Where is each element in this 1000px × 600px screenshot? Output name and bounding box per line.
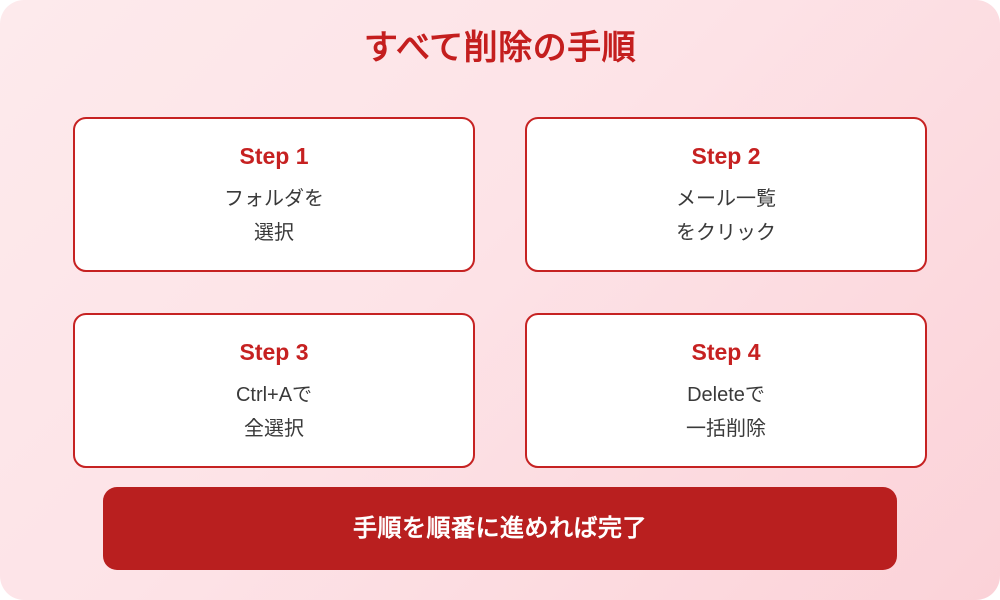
step-card-3-heading: Step 3 [239, 338, 308, 366]
step-card-1-body: フォルダを 選択 [224, 182, 324, 250]
step-card-1-heading: Step 1 [239, 142, 308, 170]
step-card-2: Step 2 メール一覧 をクリック [525, 117, 927, 272]
step-card-2-body: メール一覧 をクリック [676, 182, 776, 250]
step-card-2-heading: Step 2 [691, 142, 760, 170]
step-card-3: Step 3 Ctrl+Aで 全選択 [73, 313, 475, 468]
footer-banner-label: 手順を順番に進めれば完了 [353, 514, 647, 544]
page-title: すべて削除の手順 [0, 27, 1000, 69]
step-card-4-heading: Step 4 [691, 338, 760, 366]
steps-grid: Step 1 フォルダを 選択 Step 2 メール一覧 をクリック Step … [73, 117, 927, 468]
step-card-4-body: Deleteで 一括削除 [686, 378, 766, 446]
step-card-4: Step 4 Deleteで 一括削除 [525, 313, 927, 468]
step-card-1: Step 1 フォルダを 選択 [73, 117, 475, 272]
footer-banner: 手順を順番に進めれば完了 [103, 487, 897, 570]
steps-poster: すべて削除の手順 Step 1 フォルダを 選択 Step 2 メール一覧 をク… [0, 0, 1000, 600]
step-card-3-body: Ctrl+Aで 全選択 [236, 378, 312, 446]
